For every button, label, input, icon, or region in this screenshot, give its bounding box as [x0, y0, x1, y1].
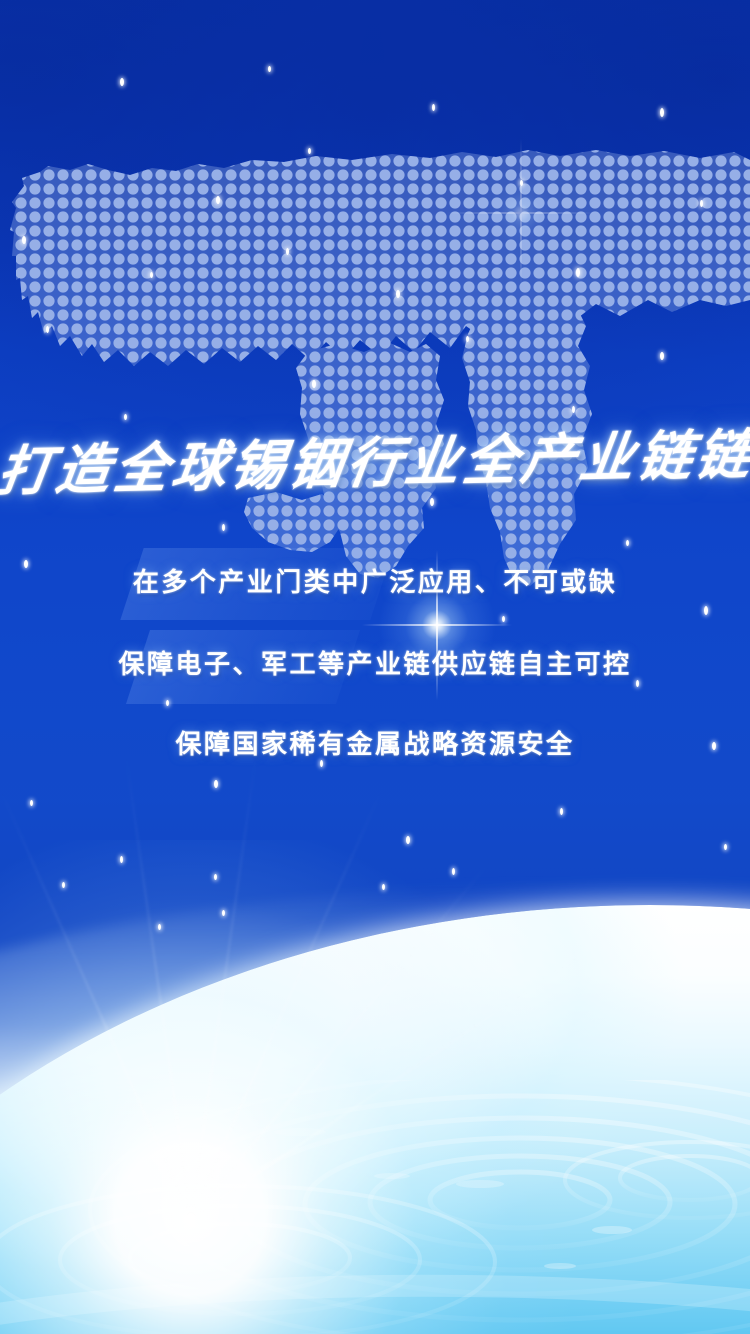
page-title: 打造全球锡铟行业全产业链链主	[0, 409, 750, 506]
sparkle-star	[222, 524, 225, 531]
sparkle-star	[22, 236, 26, 244]
sparkle-star	[700, 200, 703, 207]
bullet-line-1: 在多个产业门类中广泛应用、不可或缺	[0, 562, 750, 599]
lens-flare-star	[476, 168, 566, 258]
sparkle-star	[626, 540, 629, 546]
sparkle-star	[216, 196, 220, 204]
sparkle-star	[308, 148, 311, 154]
sparkle-star	[430, 498, 434, 506]
sparkle-star	[158, 924, 161, 930]
sparkle-star	[724, 844, 727, 850]
headline-row: 打造全球锡铟行业全产业链链主	[0, 418, 750, 497]
sparkle-star	[560, 808, 563, 815]
sparkle-star	[150, 272, 153, 278]
sparkle-star	[120, 856, 123, 863]
sparkle-star	[660, 108, 664, 117]
sparkle-star	[46, 326, 49, 333]
sparkle-star	[30, 800, 33, 806]
sparkle-star	[62, 882, 65, 888]
sparkle-star	[320, 760, 323, 767]
sparkle-star	[166, 700, 169, 706]
bullet-line-3: 保障国家稀有金属战略资源安全	[0, 724, 750, 761]
poster-canvas: 打造全球锡铟行业全产业链链主 在多个产业门类中广泛应用、不可或缺 保障电子、军工…	[0, 0, 750, 1334]
sparkle-star	[660, 352, 664, 360]
sparkle-star	[222, 910, 225, 916]
sparkle-star	[286, 248, 289, 255]
sparkle-star	[572, 406, 575, 413]
sparkle-star	[396, 290, 400, 298]
sparkle-star	[120, 78, 124, 86]
sparkle-star	[406, 836, 410, 844]
sparkle-star	[382, 884, 385, 890]
sparkle-star	[268, 66, 271, 72]
sparkle-star	[466, 336, 469, 342]
sparkle-star	[704, 606, 708, 615]
bullet-line-2: 保障电子、军工等产业链供应链自主可控	[0, 644, 750, 681]
sparkle-star	[214, 780, 218, 788]
sparkle-star	[432, 104, 435, 111]
sparkle-star	[636, 680, 639, 687]
sparkle-star	[452, 868, 455, 875]
sparkle-star	[214, 874, 217, 880]
sparkle-star	[576, 268, 580, 277]
sparkle-star	[312, 380, 316, 388]
